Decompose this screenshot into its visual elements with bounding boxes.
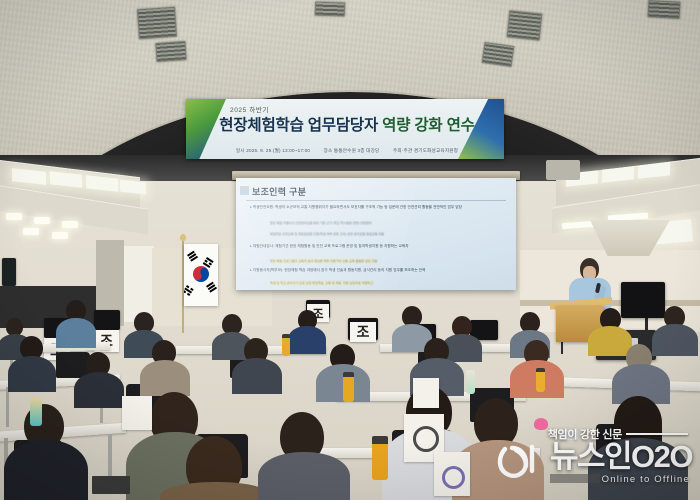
audience-body-m1: [8, 356, 56, 392]
audience-body-m8: [74, 372, 124, 408]
juice-bottle-2: [343, 372, 354, 402]
audience-body-m3: [232, 358, 282, 394]
ceiling-grille-light-1: [137, 7, 177, 40]
audience-body-n1: [4, 440, 88, 500]
downlight-l2: [34, 217, 50, 224]
seminar-hall-photo: 2025 하반기 현장체험학습 업무담당자 역량 강화 연수 일시 2025. …: [0, 0, 700, 500]
downlight-l1: [6, 213, 22, 220]
ceiling-grille-light-2: [155, 41, 186, 62]
audience-body-n7: [258, 452, 350, 500]
audience-body-n6: [588, 438, 688, 500]
downlight-l3: [62, 221, 78, 228]
korean-national-flag: [184, 244, 218, 306]
audience-body-m2: [140, 360, 190, 396]
audience-body-f10: [652, 324, 698, 356]
projection-screen: 보조인력 구분 ▸ 학생안전요원: 학생의 소규모적 교통 지원행위자가 필요하…: [236, 178, 516, 290]
pink-item: [534, 418, 548, 430]
table-leg-b1: [6, 387, 9, 427]
banner-footer-organizer: 주최·주관 경기도화성교육지원청: [393, 148, 458, 153]
group-placard-4-label: 조: [357, 322, 370, 342]
flag-finial: [180, 234, 186, 241]
water-bottle-2: [466, 370, 475, 394]
screen-glare: [236, 178, 421, 290]
juice-bottle-1: [372, 436, 388, 480]
phone-on-table: [560, 430, 578, 440]
gift-bag-2: [434, 452, 470, 496]
table-monitor-2: [94, 310, 120, 330]
audience-body-f9: [588, 326, 632, 356]
ceiling-grille-light-3: [315, 1, 345, 16]
banner-title: 현장체험학습 업무담당자 역량 강화 연수: [204, 113, 490, 135]
juice-bottle-3: [282, 334, 290, 356]
downlight-l5: [52, 232, 68, 239]
banner-footer: 일시 2025. 9. 29.(월) 13:00~17:00 장소 통통안수원 …: [202, 148, 492, 154]
pa-speaker-cabinet: [621, 282, 665, 318]
gift-bag-1-logo: [413, 426, 439, 452]
downlight-l4: [23, 228, 39, 235]
gift-bag-2-logo: [442, 466, 465, 489]
banner-title-highlight: 역량 강화 연수: [382, 117, 475, 134]
audience-body-f2: [56, 318, 96, 348]
wall-tv-left: [2, 258, 16, 286]
ceiling-grille-light-4: [507, 10, 543, 40]
group-placard-4: 조: [350, 322, 376, 342]
ceiling-grille-light-5: [482, 42, 515, 67]
gift-bag-4: [122, 396, 152, 430]
event-banner: 2025 하반기 현장체험학습 업무담당자 역량 강화 연수 일시 2025. …: [186, 99, 504, 159]
notebook-1: [92, 476, 130, 494]
ceiling-grille-light-6: [648, 0, 681, 19]
banner-footer-datetime: 일시 2025. 9. 29.(월) 13:00~17:00: [236, 148, 310, 153]
banner-footer-location: 장소 통통안수원 3층 대강당: [324, 148, 380, 153]
gift-bag-3: [413, 378, 439, 408]
audience-body-f5: [288, 326, 326, 354]
banner-title-main: 현장체험학습 업무담당자: [219, 117, 382, 134]
ac-unit: [546, 160, 580, 180]
juice-bottle-4: [536, 368, 545, 392]
water-bottle-1: [30, 398, 42, 426]
back-wall-left: [122, 246, 154, 322]
